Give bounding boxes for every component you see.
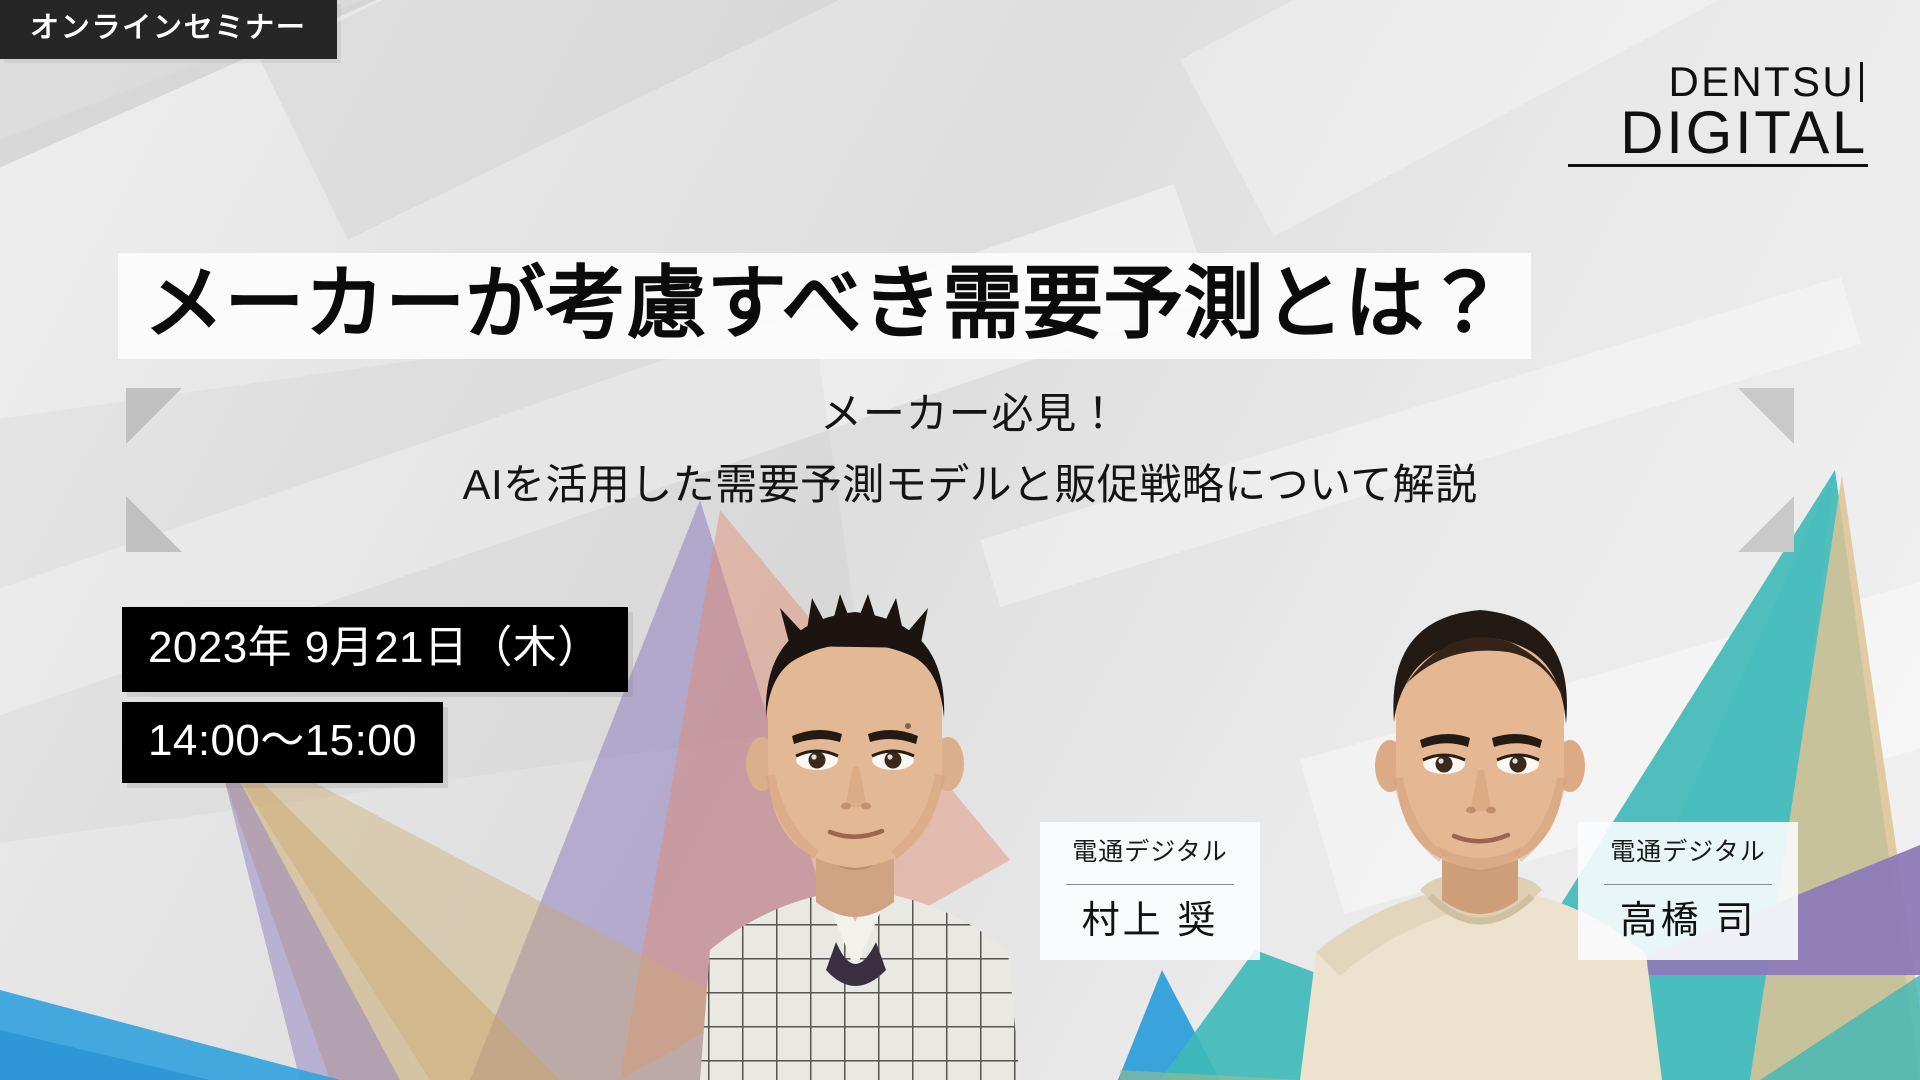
online-seminar-badge: オンラインセミナー (0, 0, 337, 59)
seminar-banner: オンラインセミナー DENTSU DIGITAL メーカーが考慮すべき需要予測と… (0, 0, 1920, 1080)
seminar-time: 14:00〜15:00 (122, 702, 443, 783)
speaker-2-divider (1604, 884, 1772, 885)
logo-digital-text: DIGITAL (1620, 104, 1868, 161)
speaker-card-2: 電通デジタル 高橋 司 (1578, 822, 1798, 960)
speaker-2-name: 高橋 司 (1598, 902, 1778, 940)
subtitle-block: メーカー必見！ AIを活用した需要予測モデルと販促戦略について解説 (120, 386, 1820, 513)
logo-line-dentsu: DENTSU (1620, 62, 1868, 102)
logo-underline-icon (1568, 164, 1868, 167)
speaker-card-1: 電通デジタル 村上 奨 (1040, 822, 1260, 960)
dentsu-digital-logo: DENTSU DIGITAL (1620, 62, 1868, 161)
main-title: メーカーが考慮すべき需要予測とは？ (118, 253, 1531, 359)
speaker-photo-1 (640, 550, 1070, 1080)
logo-bar-icon (1860, 62, 1863, 102)
logo-dentsu-text: DENTSU (1668, 62, 1855, 102)
speaker-1-divider (1066, 884, 1234, 885)
logo-line-digital: DIGITAL (1620, 104, 1868, 161)
speaker-2-org: 電通デジタル (1598, 840, 1778, 865)
subtitle-line-2: AIを活用した需要予測モデルと販促戦略について解説 (120, 457, 1820, 514)
main-title-text: メーカーが考慮すべき需要予測とは？ (144, 261, 1505, 347)
speaker-1-org: 電通デジタル (1060, 840, 1240, 865)
speaker-1-name: 村上 奨 (1060, 902, 1240, 940)
subtitle-line-1: メーカー必見！ (120, 386, 1820, 443)
speaker-photo-2 (1270, 560, 1690, 1080)
seminar-date: 2023年 9月21日（木） (122, 607, 628, 692)
